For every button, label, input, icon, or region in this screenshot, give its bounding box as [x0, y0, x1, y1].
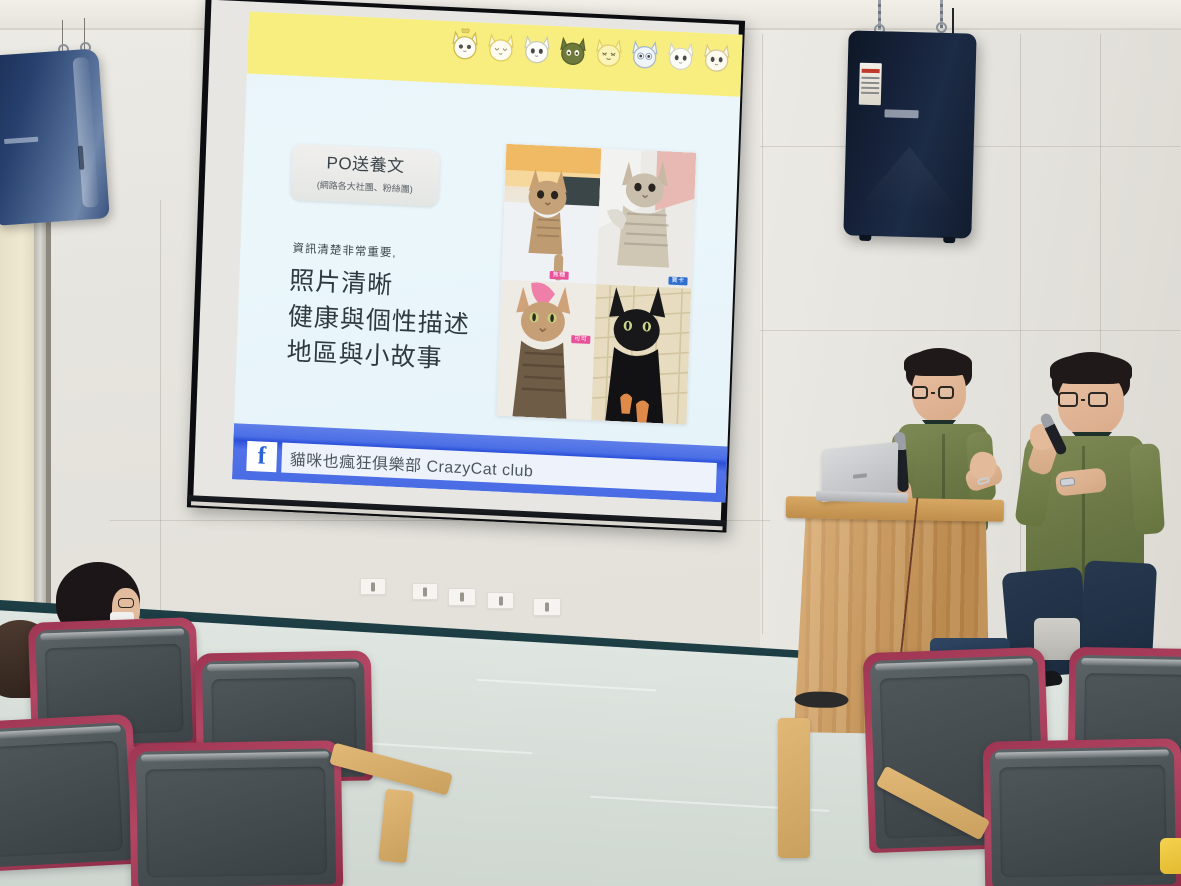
facebook-icon: f [246, 441, 277, 472]
slide-bullet-list: 照片清晰 健康與個性描述 地區與小故事 [286, 264, 472, 379]
cat-photo-black-cat [591, 284, 691, 424]
seat-tablet-arm-support [778, 718, 810, 858]
ceiling-speaker-left [0, 48, 110, 225]
wall-seam [160, 200, 161, 620]
cat-face-icon-4 [557, 32, 588, 67]
cat-photo-tabby-held: 寶卡 [596, 148, 696, 288]
speaker-label-sticker [859, 63, 882, 106]
auditorium-seat[interactable] [0, 714, 140, 872]
cat-face-icon-3 [521, 30, 552, 65]
wall-seam [760, 330, 1180, 331]
auditorium-seat[interactable] [129, 740, 344, 886]
speaker-hanger-ring [936, 22, 947, 33]
cat-photo-tabby-pink: 可可 [496, 280, 596, 420]
photo-tag: 可可 [571, 335, 590, 344]
cat-photo-tabby-bed: 焦糖 [501, 144, 601, 284]
presenter2-wristwatch [1060, 477, 1076, 487]
cat-photo-collage: 焦糖 寶卡 [496, 144, 696, 425]
projection-screen: PO送養文 (網路各大社團、粉絲團) 資訊清楚非常重要, 照片清晰 健康與個性描… [187, 0, 745, 533]
wall-seam [1020, 34, 1021, 634]
wall-outlet[interactable] [360, 578, 386, 595]
cat-face-icon-8 [701, 39, 732, 74]
cat-face-icon-6 [629, 36, 660, 71]
podium-shelf [794, 691, 848, 708]
doorway-panel [0, 215, 36, 635]
wall-switch-plate[interactable] [487, 592, 514, 609]
slide-subtitle: (網路各大社團、粉絲團) [297, 177, 433, 196]
audience-glasses [118, 598, 134, 608]
ceiling-speaker-right [843, 30, 976, 238]
wall-outlet[interactable] [412, 583, 438, 600]
presenter-glasses [912, 386, 954, 399]
wall-switch-plate[interactable] [533, 598, 561, 616]
photo-tag: 寶卡 [668, 277, 687, 286]
slide-title-chip: PO送養文 (網路各大社團、粉絲團) [290, 144, 440, 207]
speaker-cable [952, 8, 954, 34]
presenter2-glasses [1058, 392, 1108, 407]
photo-tag: 焦糖 [550, 271, 569, 280]
slide-lead-line: 資訊清楚非常重要, [292, 240, 397, 261]
cat-icon-row [449, 27, 732, 74]
cat-face-icon-2 [485, 29, 516, 64]
cat-face-icon-7 [665, 37, 696, 72]
wall-outlet[interactable] [448, 588, 476, 606]
projected-slide: PO送養文 (網路各大社團、粉絲團) 資訊清楚非常重要, 照片清晰 健康與個性描… [232, 12, 743, 503]
slide-bullet-3: 地區與小故事 [286, 335, 469, 379]
wall-seam [762, 34, 763, 634]
lecture-hall-photo: PO送養文 (網路各大社團、粉絲團) 資訊清楚非常重要, 照片清晰 健康與個性描… [0, 0, 1181, 886]
yellow-item [1160, 838, 1181, 874]
slide-title: PO送養文 [297, 153, 434, 178]
facebook-icon-letter: f [257, 443, 266, 468]
doorway-dark-edge [46, 205, 51, 645]
presenter2-hair-top [1050, 354, 1132, 384]
presenter2-right-arm [1129, 443, 1165, 535]
cat-face-icon-5 [593, 34, 624, 69]
presenter-hair-top [904, 350, 972, 376]
auditorium-seat[interactable] [983, 738, 1181, 886]
cat-face-icon-1 [449, 27, 480, 62]
